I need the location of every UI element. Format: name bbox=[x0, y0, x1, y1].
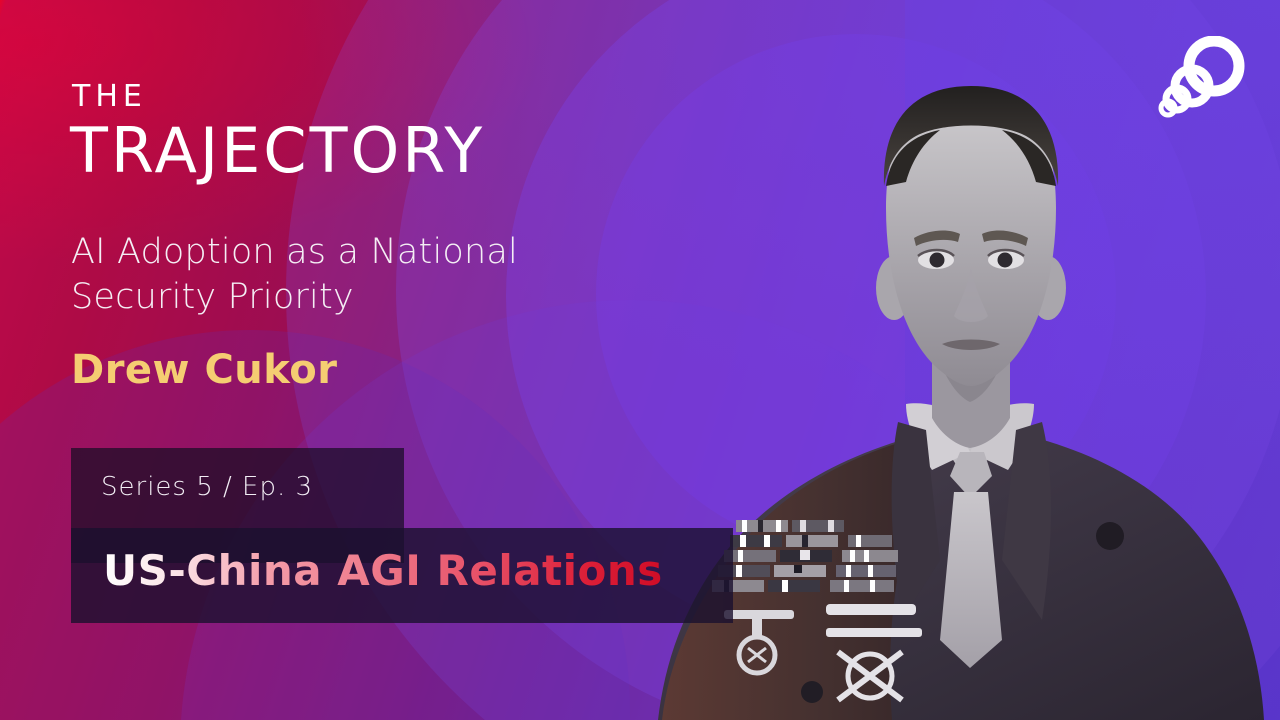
episode-title-banner: US-China AGI Relations bbox=[71, 528, 733, 623]
episode-title: US-China AGI Relations bbox=[103, 550, 663, 592]
thumbnail-canvas: THE TRAJECTORY AI Adoption as a National… bbox=[0, 0, 1280, 720]
show-eyebrow: THE bbox=[72, 82, 147, 112]
show-title: TRAJECTORY bbox=[70, 118, 485, 183]
overlapping-rings-logo-icon bbox=[1152, 36, 1248, 128]
guest-name: Drew Cukor bbox=[71, 350, 338, 390]
episode-subtitle: AI Adoption as a National Security Prior… bbox=[71, 230, 631, 320]
series-episode-label: Series 5 / Ep. 3 bbox=[101, 472, 313, 502]
